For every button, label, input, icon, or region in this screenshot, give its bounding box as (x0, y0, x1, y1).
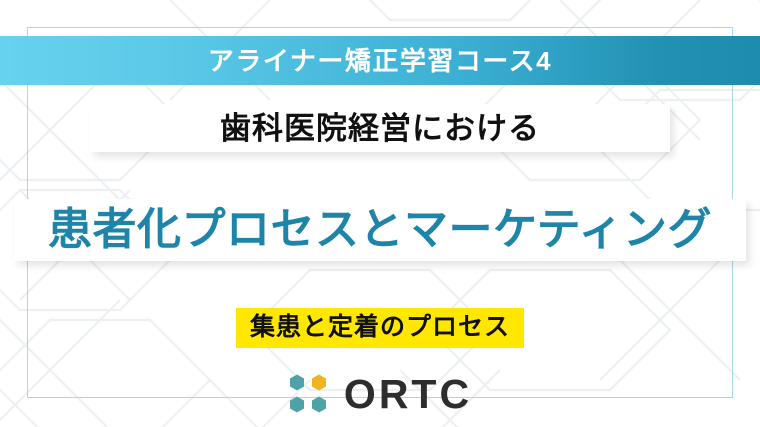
headline-main-band: 患者化プロセスとマーケティング (14, 199, 746, 261)
ortc-logo: ORTC (0, 368, 760, 420)
hex-bottom-left-icon (290, 397, 304, 413)
course-banner: アライナー矯正学習コース4 (0, 36, 760, 85)
caption-row: 集患と定着のプロセス (0, 308, 760, 348)
caption-highlight-text: 集患と定着のプロセス (236, 308, 524, 348)
headline-sub-band: 歯科医院経営における (90, 104, 670, 152)
hex-top-right-icon (312, 375, 326, 391)
hex-top-left-icon (290, 375, 304, 391)
headline-main-text: 患者化プロセスとマーケティング (48, 208, 712, 252)
slide-canvas: アライナー矯正学習コース4 歯科医院経営における 患者化プロセスとマーケティング… (0, 0, 760, 427)
hex-bottom-right-icon (312, 397, 326, 413)
ortc-hexagon-mark (288, 373, 330, 415)
headline-sub-text: 歯科医院経営における (220, 113, 540, 144)
ortc-wordmark: ORTC (344, 374, 472, 415)
course-banner-label: アライナー矯正学習コース4 (208, 48, 552, 74)
